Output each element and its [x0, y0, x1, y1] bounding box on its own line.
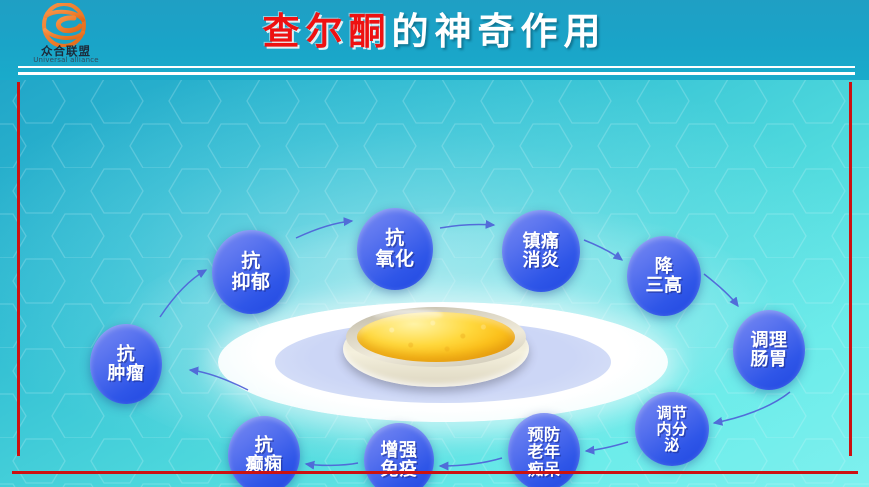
- header-divider-top: [18, 66, 855, 68]
- node-label: 抗 氧化: [375, 228, 414, 269]
- node-anti-tumor[interactable]: 抗 肿瘤: [90, 324, 162, 404]
- node-label: 调理 肠胃: [751, 331, 788, 370]
- frame-border-left: [17, 82, 20, 456]
- flow-arrows: [0, 78, 869, 487]
- node-label: 抗 抑郁: [231, 251, 270, 292]
- node-lower-three-highs[interactable]: 降 三高: [627, 236, 701, 316]
- node-boost-immunity[interactable]: 增强 免疫: [364, 423, 434, 487]
- node-label: 抗 癫痫: [246, 436, 283, 475]
- arrow-antitumor-to-antidepression: [160, 270, 206, 317]
- header-divider-bottom: [18, 72, 855, 75]
- node-antioxidant[interactable]: 抗 氧化: [357, 208, 433, 290]
- arrow-lowerthreehighs-to-stomach: [704, 274, 738, 306]
- arrow-immunity-to-epilepsy: [306, 463, 358, 465]
- diagram-canvas: 抗 抑郁抗 氧化镇痛 消炎降 三高调理 肠胃调节 内分 泌预防 老年 痴呆增强 …: [0, 78, 869, 487]
- title-rest: 的神奇作用: [392, 10, 607, 53]
- arrow-antioxidant-to-analgesic: [440, 224, 494, 228]
- frame-border-bottom: [12, 471, 858, 474]
- node-regulate-stomach[interactable]: 调理 肠胃: [733, 310, 805, 390]
- node-analgesic[interactable]: 镇痛 消炎: [502, 210, 580, 292]
- node-label: 抗 肿瘤: [108, 345, 145, 384]
- slide-root: 众合联盟 Universal alliance 查尔酮的神奇作用: [0, 0, 869, 487]
- node-anti-depression[interactable]: 抗 抑郁: [212, 230, 290, 314]
- node-label: 降 三高: [646, 257, 683, 296]
- page-title: 查尔酮的神奇作用: [0, 9, 869, 55]
- arrow-dementia-to-immunity: [440, 458, 502, 466]
- node-endocrine[interactable]: 调节 内分 泌: [635, 392, 709, 466]
- logo-text-en: Universal alliance: [14, 56, 118, 64]
- node-prevent-dementia[interactable]: 预防 老年 痴呆: [508, 413, 580, 487]
- title-highlight: 查尔酮: [263, 10, 392, 53]
- slide-header: 众合联盟 Universal alliance 查尔酮的神奇作用: [0, 0, 869, 80]
- arrow-analgesic-to-lowerthreehighs: [584, 240, 622, 260]
- node-label: 镇痛 消炎: [523, 232, 560, 271]
- frame-border-right: [849, 82, 852, 456]
- arrow-epilepsy-to-antitumor: [190, 370, 248, 390]
- arrow-stomach-to-endocrine: [714, 392, 790, 423]
- node-label: 调节 内分 泌: [656, 405, 687, 454]
- arrow-antidepression-to-antioxidant: [296, 221, 352, 238]
- arrow-endocrine-to-dementia: [586, 442, 628, 451]
- node-anti-epilepsy[interactable]: 抗 癫痫: [228, 416, 300, 487]
